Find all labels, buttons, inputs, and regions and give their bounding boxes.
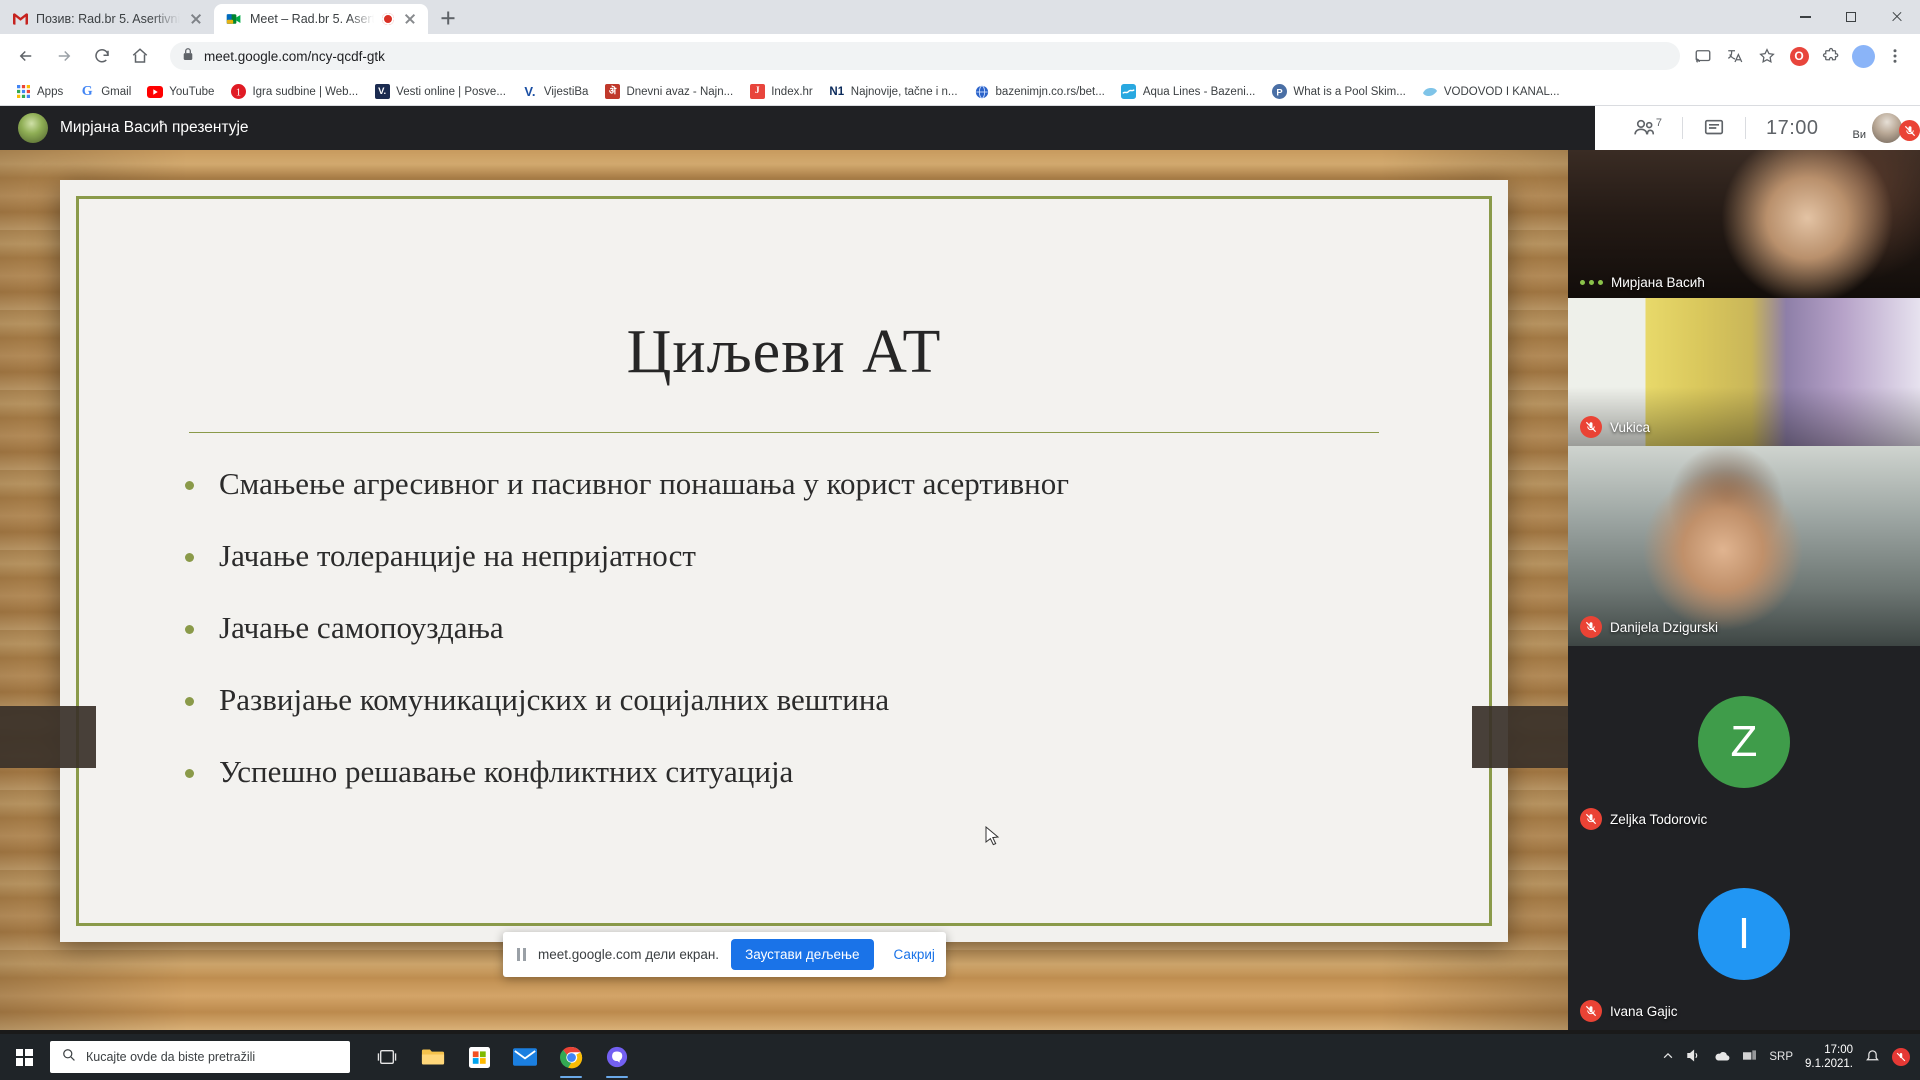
participant-name: Ivana Gajic [1610, 1004, 1678, 1019]
slide-bullet-list: Смањење агресивног и пасивног понашања у… [149, 467, 1419, 789]
circle-one-icon: 1 [230, 84, 246, 100]
svg-text:P: P [1276, 87, 1282, 97]
participant-label: Vukica [1580, 416, 1650, 438]
participant-label: Мирјана Васић [1580, 275, 1705, 290]
windows-taskbar: Кucajte ovde da biste pretražili [0, 1034, 1920, 1080]
windows-logo-icon [16, 1049, 33, 1066]
recording-indicator-icon [382, 13, 394, 25]
bookmark-label: Vesti online | Posve... [396, 86, 506, 98]
participant-tile-zeljka[interactable]: Z Zeljka Todorovic [1568, 646, 1920, 838]
address-bar-url: meet.google.com/ncy-qcdf-gtk [204, 49, 385, 64]
v-letter-icon: V. [522, 84, 538, 100]
slide-bullet: Јачање самопоуздања [185, 611, 1419, 645]
close-window-button[interactable] [1874, 0, 1920, 34]
meeting-clock: 17:00 [1746, 114, 1839, 142]
chrome-icon[interactable] [550, 1034, 592, 1080]
three-dot-menu-icon[interactable] [1880, 41, 1910, 71]
v-square-icon: V. [374, 84, 390, 100]
slide-bullet: Јачање толеранције на непријатност [185, 539, 1419, 573]
apps-grid-icon [15, 84, 31, 100]
participant-name: Zeljka Todorovic [1610, 812, 1707, 827]
participant-label: Zeljka Todorovic [1580, 808, 1707, 830]
new-tab-button[interactable] [434, 4, 462, 32]
translate-icon[interactable] [1720, 41, 1750, 71]
browser-tab-1[interactable]: Meet – Rad.br 5. Asertivni tre [214, 4, 428, 34]
hide-notification-button[interactable]: Сакриј [886, 941, 943, 968]
volume-icon[interactable] [1686, 1048, 1701, 1066]
bookmark-label: bazenimjn.co.rs/bet... [996, 86, 1105, 98]
notifications-icon[interactable] [1865, 1048, 1880, 1066]
tray-mic-off-icon[interactable] [1892, 1048, 1910, 1066]
bookmark-label: YouTube [169, 86, 214, 98]
gmail-icon: G [79, 84, 95, 100]
bookmark-bazenimjn[interactable]: bazenimjn.co.rs/bet... [967, 81, 1112, 103]
extension-badge-icon[interactable]: O [1784, 41, 1814, 71]
star-icon[interactable] [1752, 41, 1782, 71]
bookmark-igra-sudbine[interactable]: 1 Igra sudbine | Web... [223, 81, 365, 103]
slide-frame: Циљеви АТ Смањење агресивног и пасивног … [60, 180, 1508, 942]
bookmark-label: Igra sudbine | Web... [252, 86, 358, 98]
self-avatar [1872, 113, 1902, 143]
profile-avatar[interactable] [1848, 41, 1878, 71]
participant-tile-mirjana[interactable]: Мирјана Васић [1568, 150, 1920, 298]
puzzle-icon[interactable] [1816, 41, 1846, 71]
self-label: Ви [1853, 129, 1866, 141]
slide-title: Циљеви АТ [149, 317, 1419, 388]
taskbar-clock[interactable]: 17:00 9.1.2021. [1805, 1043, 1853, 1072]
browser-tab-strip: Позив: Rad.br 5. Asertivni trening Meet … [0, 0, 1920, 34]
bookmark-pool-skimmer[interactable]: P What is a Pool Skim... [1264, 81, 1412, 103]
file-explorer-icon[interactable] [412, 1034, 454, 1080]
bookmarks-bar: Apps G Gmail YouTube 1 Igra sudbine | We… [0, 78, 1920, 106]
participant-tile-vukica[interactable]: Vukica [1568, 298, 1920, 446]
stop-sharing-button[interactable]: Заустави дељење [731, 939, 873, 970]
slide-bullet: Смањење агресивног и пасивног понашања у… [185, 467, 1419, 501]
pause-icon[interactable] [517, 948, 526, 961]
participant-tile-danijela[interactable]: Danijela Dzigurski [1568, 446, 1920, 646]
participant-name: Danijela Dzigurski [1610, 620, 1718, 635]
wave-icon [1121, 84, 1137, 100]
title-divider [189, 432, 1379, 433]
browser-toolbar: meet.google.com/ncy-qcdf-gtk O [0, 34, 1920, 78]
participant-initial-avatar: I [1698, 888, 1790, 980]
mic-off-icon [1899, 120, 1920, 141]
participant-name: Мирјана Васић [1611, 275, 1705, 290]
meet-header-actions: 7 17:00 Ви [1595, 106, 1920, 150]
bookmark-label: VODOVOD I KANAL... [1444, 86, 1560, 98]
youtube-icon [147, 84, 163, 100]
clock-date: 9.1.2021. [1805, 1057, 1853, 1071]
mail-icon[interactable] [504, 1034, 546, 1080]
forward-arrow-icon[interactable] [48, 40, 80, 72]
pinterest-icon: P [1271, 84, 1287, 100]
onedrive-icon[interactable] [1713, 1050, 1730, 1065]
home-icon[interactable] [124, 40, 156, 72]
gmail-icon [12, 11, 28, 27]
bookmark-label: What is a Pool Skim... [1293, 86, 1405, 98]
bookmark-n1[interactable]: N1 Najnovije, tačne i n... [822, 81, 965, 103]
participants-count: 7 [1656, 117, 1662, 129]
bookmark-vijestiba[interactable]: V. VijestiBa [515, 81, 596, 103]
start-button[interactable] [0, 1034, 48, 1080]
n1-icon: N1 [829, 84, 845, 100]
bookmark-vesti-online[interactable]: V. Vesti online | Posve... [367, 81, 513, 103]
taskbar-search-placeholder: Кucajte ovde da biste pretražili [86, 1050, 255, 1064]
share-status-text: meet.google.com дели екран. [538, 947, 719, 962]
mic-off-icon [1580, 616, 1602, 638]
bookmark-label: Gmail [101, 86, 131, 98]
search-icon [62, 1048, 76, 1067]
bookmark-label: Index.hr [771, 86, 813, 98]
svg-text:1: 1 [236, 87, 241, 98]
browser-tab-0[interactable]: Позив: Rad.br 5. Asertivni trening [0, 4, 214, 34]
participant-rail: Мирјана Васић Vukica Danijela Dzigurski [1568, 150, 1920, 1030]
meet-presenter-header: Мирјана Васић презентује 7 17:00 Ви [0, 106, 1920, 150]
close-icon[interactable] [402, 11, 418, 27]
language-indicator[interactable]: SRP [1769, 1051, 1793, 1063]
address-bar[interactable]: meet.google.com/ncy-qcdf-gtk [170, 42, 1680, 70]
bookmark-label: Aqua Lines - Bazeni... [1143, 86, 1256, 98]
viber-icon[interactable] [596, 1034, 638, 1080]
participant-tile-ivana[interactable]: I Ivana Gajic [1568, 838, 1920, 1030]
index-icon: J [749, 84, 765, 100]
presentation-slide: Циљеви АТ Смањење агресивног и пасивног … [76, 196, 1492, 926]
toolbar-right-actions: O [1688, 41, 1910, 71]
bookmark-label: Apps [37, 86, 63, 98]
network-icon[interactable] [1742, 1049, 1757, 1065]
system-tray: SRP 17:00 9.1.2021. [1662, 1043, 1920, 1072]
mouse-cursor [985, 826, 1001, 848]
mic-off-icon [1580, 416, 1602, 438]
back-arrow-icon[interactable] [10, 40, 42, 72]
bookmark-youtube[interactable]: YouTube [140, 81, 221, 103]
maximize-button[interactable] [1828, 0, 1874, 34]
speaking-indicator-icon [1580, 280, 1603, 285]
participants-button[interactable]: 7 [1613, 114, 1682, 142]
browser-tab-title: Meet – Rad.br 5. Asertivni tre [250, 12, 374, 26]
chat-button[interactable] [1683, 114, 1745, 142]
lock-icon [182, 47, 194, 66]
participant-label: Danijela Dzigurski [1580, 616, 1718, 638]
taskbar-search-box[interactable]: Кucajte ovde da biste pretražili [50, 1041, 350, 1073]
bookmark-label: Najnovije, tačne i n... [851, 86, 958, 98]
cast-icon[interactable] [1688, 41, 1718, 71]
task-view-icon[interactable] [366, 1034, 408, 1080]
window-controls [1782, 0, 1920, 34]
reload-icon[interactable] [86, 40, 118, 72]
next-slide-button[interactable] [1472, 706, 1568, 768]
water-icon [1422, 84, 1438, 100]
shared-screen-stage[interactable]: Циљеви АТ Смањење агресивног и пасивног … [0, 150, 1568, 1030]
previous-slide-button[interactable] [0, 706, 96, 768]
screen-share-notification: meet.google.com дели екран. Заустави дељ… [503, 932, 946, 977]
presenter-avatar [18, 113, 48, 143]
bookmark-index-hr[interactable]: J Index.hr [742, 81, 820, 103]
avaz-icon: ऄ [604, 84, 620, 100]
participant-label: Ivana Gajic [1580, 1000, 1678, 1022]
participant-name: Vukica [1610, 420, 1650, 435]
bookmark-dnevni-avaz[interactable]: ऄ Dnevni avaz - Najn... [597, 81, 740, 103]
screen-root: Позив: Rad.br 5. Asertivni trening Meet … [0, 0, 1920, 1080]
bookmark-apps[interactable]: Apps [8, 81, 70, 103]
close-icon[interactable] [188, 11, 204, 27]
globe-icon [974, 84, 990, 100]
bookmark-aqua-lines[interactable]: Aqua Lines - Bazeni... [1114, 81, 1263, 103]
browser-tab-title: Позив: Rad.br 5. Asertivni trening [36, 12, 180, 26]
clock-time: 17:00 [1805, 1043, 1853, 1057]
mic-off-icon [1580, 1000, 1602, 1022]
chevron-up-icon[interactable] [1662, 1050, 1674, 1065]
bookmark-gmail[interactable]: G Gmail [72, 81, 138, 103]
presenter-banner-text: Мирјана Васић презентује [60, 119, 249, 137]
slide-bullet: Развијање комуникацијских и социјалних в… [185, 683, 1419, 717]
bookmark-label: VijestiBa [544, 86, 589, 98]
bookmark-label: Dnevni avaz - Najn... [626, 86, 733, 98]
minimize-button[interactable] [1782, 0, 1828, 34]
participant-initial-avatar: Z [1698, 696, 1790, 788]
meet-icon [226, 11, 242, 27]
taskbar-app-list [366, 1034, 638, 1080]
microsoft-store-icon[interactable] [458, 1034, 500, 1080]
slide-bullet: Успешно решавање конфликтних ситуација [185, 755, 1419, 789]
mic-off-icon [1580, 808, 1602, 830]
extension-badge-label: O [1790, 47, 1809, 66]
bookmark-vodovod[interactable]: VODOVOD I KANAL... [1415, 81, 1567, 103]
self-tile[interactable]: Ви [1839, 113, 1906, 143]
